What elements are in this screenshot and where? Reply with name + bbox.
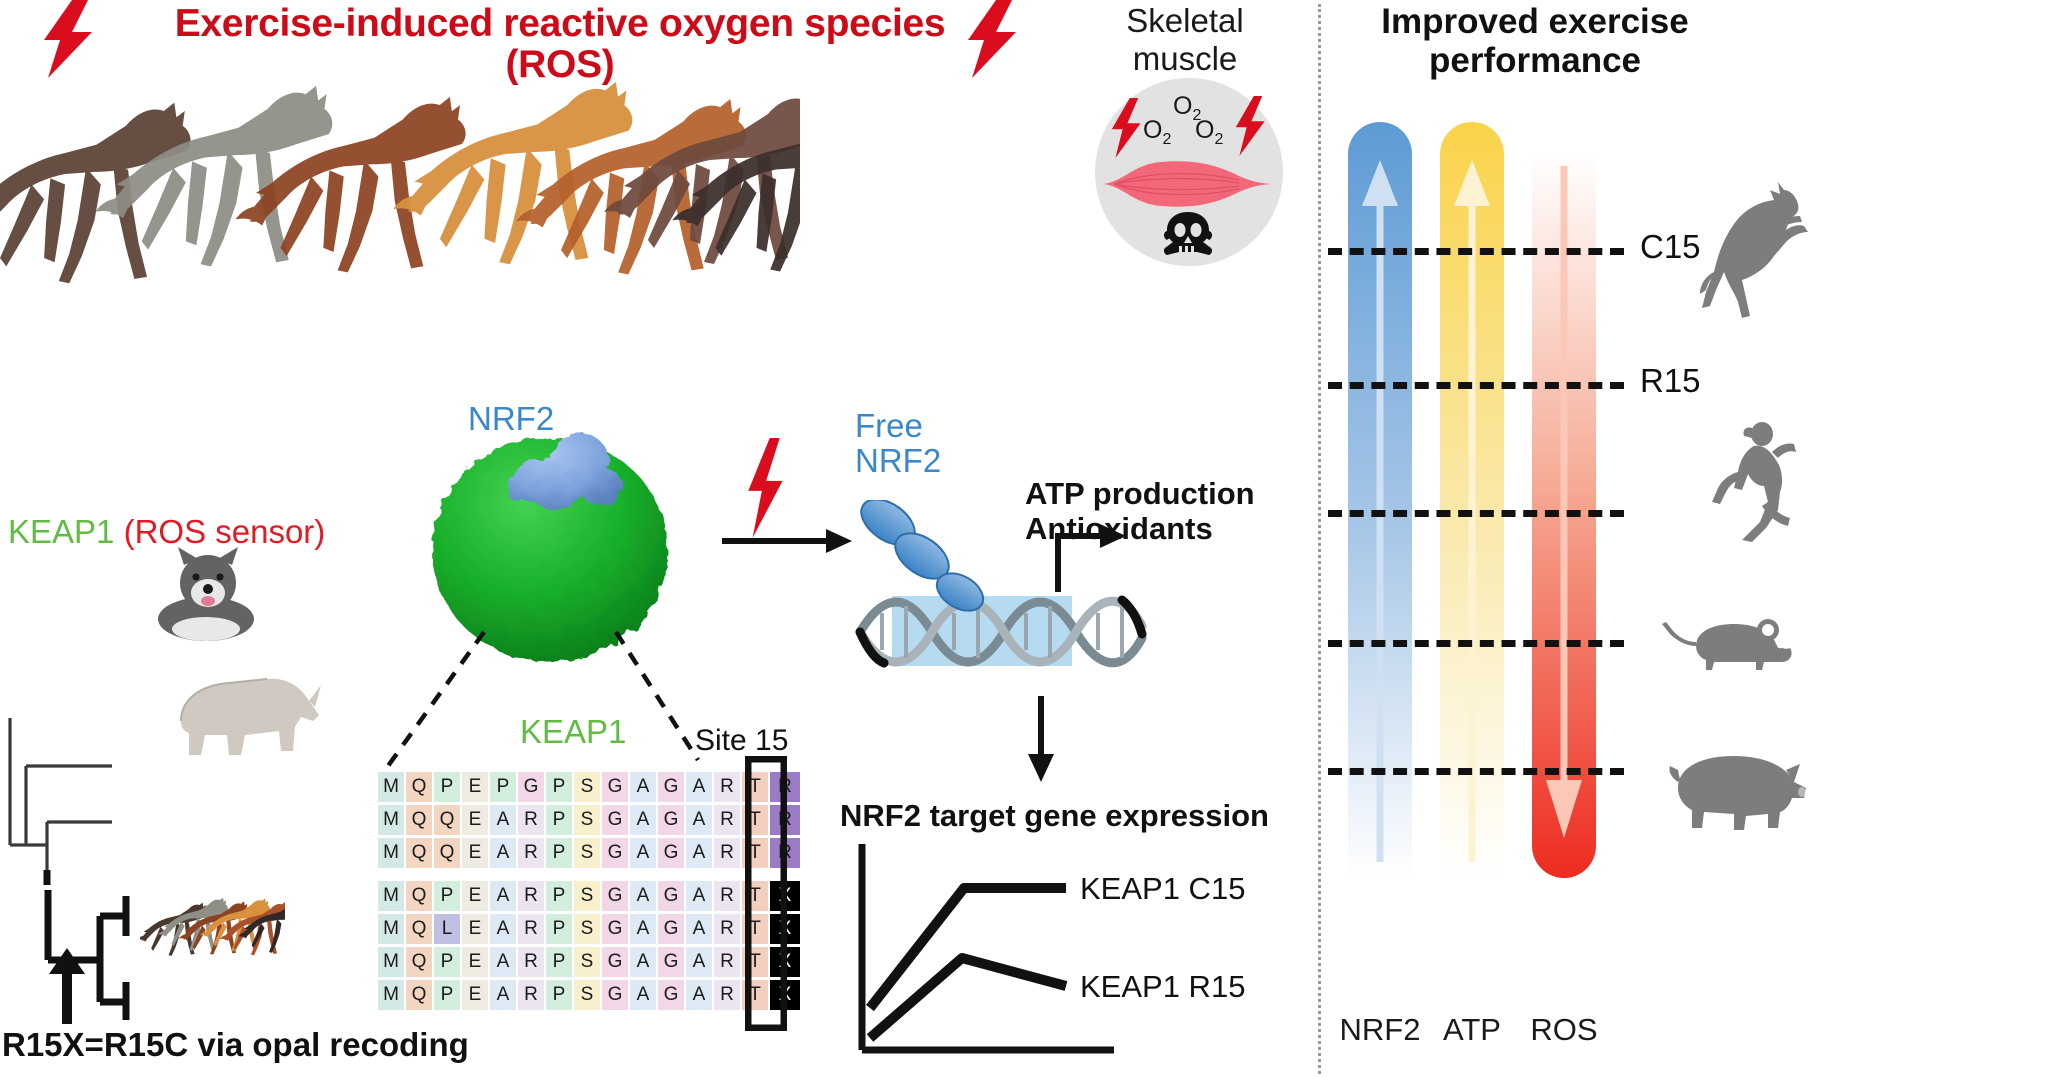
- alignment-residue-cell: R: [714, 881, 740, 911]
- chart-legend-c15: KEAP1 C15: [1080, 871, 1245, 907]
- alignment-residue-cell: R: [518, 914, 544, 944]
- bar-label-nrf2: NRF2: [1335, 1012, 1425, 1048]
- alignment-residue-cell: P: [546, 980, 572, 1010]
- alignment-row: MQPEARPSGAGARTX: [378, 980, 800, 1010]
- improved-exercise-title: Improved exercise performance: [1370, 2, 1700, 80]
- alignment-residue-cell: A: [686, 805, 712, 835]
- alignment-residue-cell: P: [546, 805, 572, 835]
- alignment-residue-cell: E: [462, 947, 488, 977]
- alignment-residue-cell: A: [630, 980, 656, 1010]
- alignment-residue-cell: A: [630, 881, 656, 911]
- alignment-residue-cell: S: [574, 838, 600, 868]
- reference-label-r15: R15: [1640, 362, 1701, 400]
- improved-exercise-l1: Improved exercise: [1370, 2, 1700, 41]
- reference-label-c15: C15: [1640, 228, 1701, 266]
- alignment-residue-cell: G: [658, 838, 684, 868]
- alignment-residue-cell: G: [602, 805, 628, 835]
- alignment-residue-cell: G: [602, 980, 628, 1010]
- chart-legend-r15: KEAP1 R15: [1080, 969, 1245, 1005]
- free-nrf2-l1: Free: [855, 408, 941, 443]
- alignment-residue-cell: A: [630, 805, 656, 835]
- alignment-residue-cell: P: [546, 914, 572, 944]
- reference-line-r15: [1328, 382, 1624, 389]
- alignment-residue-cell: Q: [406, 914, 432, 944]
- free-nrf2-label: Free NRF2: [855, 408, 941, 479]
- downstream-arrow: [1026, 696, 1056, 782]
- alignment-residue-cell: P: [546, 881, 572, 911]
- alignment-residue-cell: E: [462, 914, 488, 944]
- alignment-row: MQPEPGPSGAGARTR: [378, 772, 800, 802]
- alignment-residue-cell: S: [574, 947, 600, 977]
- muscle-icon: [1099, 158, 1279, 210]
- galloping-horses-small-photo: [140, 892, 285, 962]
- alignment-residue-cell: Q: [406, 980, 432, 1010]
- r15x-caption: R15X=R15C via opal recoding: [2, 1026, 469, 1064]
- alignment-residue-cell: S: [574, 772, 600, 802]
- alignment-residue-cell: A: [686, 947, 712, 977]
- alignment-residue-cell: P: [434, 772, 460, 802]
- alignment-residue-cell: G: [658, 914, 684, 944]
- alignment-residue-cell: P: [546, 947, 572, 977]
- alignment-residue-cell: A: [490, 881, 516, 911]
- o2-label-right: O2: [1195, 116, 1223, 149]
- alignment-residue-cell: A: [630, 947, 656, 977]
- galloping-horses-herd: [0, 48, 800, 288]
- dog-photo: [148, 545, 264, 645]
- rhinoceros-photo: [175, 655, 325, 765]
- o2-label-left: O2: [1143, 116, 1171, 149]
- lightning-bolt-icon: [1231, 96, 1267, 156]
- alignment-residue-cell: Q: [406, 805, 432, 835]
- alignment-residue-cell: P: [434, 980, 460, 1010]
- alignment-residue-cell: G: [518, 772, 544, 802]
- alignment-residue-cell: E: [462, 881, 488, 911]
- mouse-icon: [1660, 612, 1800, 682]
- alignment-row: MQQEARPSGAGARTR: [378, 838, 800, 868]
- activation-arrow: [722, 527, 852, 555]
- alignment-row: MQPEARPSGAGARTX: [378, 947, 800, 977]
- reference-line-3: [1328, 510, 1624, 517]
- alignment-residue-cell: G: [658, 980, 684, 1010]
- atp-production-text: ATP production: [1025, 477, 1255, 512]
- alignment-residue-cell: A: [686, 980, 712, 1010]
- panel-divider: [1318, 4, 1321, 1074]
- alignment-residue-cell: G: [658, 805, 684, 835]
- alignment-residue-cell: M: [378, 838, 404, 868]
- alignment-residue-cell: M: [378, 772, 404, 802]
- alignment-residue-cell: A: [686, 772, 712, 802]
- skeletal-muscle-title-l2: muscle: [1070, 40, 1300, 78]
- alignment-residue-cell: P: [546, 772, 572, 802]
- alignment-residue-cell: R: [714, 838, 740, 868]
- alignment-residue-cell: G: [602, 838, 628, 868]
- alignment-residue-cell: Q: [406, 838, 432, 868]
- alignment-residue-cell: S: [574, 914, 600, 944]
- alignment-residue-cell: M: [378, 805, 404, 835]
- alignment-residue-cell: A: [686, 838, 712, 868]
- skull-and-crossbones-icon: [1159, 212, 1217, 262]
- bar-label-ros: ROS: [1519, 1012, 1609, 1048]
- reference-line-4: [1328, 640, 1624, 647]
- alignment-residue-cell: G: [602, 881, 628, 911]
- skeletal-muscle-title: Skeletal muscle: [1070, 2, 1300, 79]
- reference-line-c15: [1328, 248, 1624, 255]
- site15-highlight-box: [745, 756, 787, 1031]
- alignment-residue-cell: M: [378, 947, 404, 977]
- alignment-row: MQQEARPSGAGARTR: [378, 805, 800, 835]
- alignment-residue-cell: Q: [406, 881, 432, 911]
- improved-exercise-l2: performance: [1370, 41, 1700, 80]
- alignment-residue-cell: G: [602, 914, 628, 944]
- keap1-text: KEAP1: [8, 513, 114, 550]
- human-runner-icon: [1708, 422, 1808, 542]
- skeletal-muscle-diagram: O2 O2 O2: [1095, 78, 1283, 266]
- alignment-residue-cell: A: [490, 980, 516, 1010]
- alignment-residue-cell: G: [658, 881, 684, 911]
- alignment-residue-cell: R: [518, 947, 544, 977]
- alignment-residue-cell: S: [574, 980, 600, 1010]
- alignment-residue-cell: A: [490, 914, 516, 944]
- skeletal-muscle-title-l1: Skeletal: [1070, 2, 1300, 40]
- alignment-residue-cell: A: [490, 947, 516, 977]
- lightning-bolt-icon: [962, 0, 1022, 78]
- antioxidants-text: Antioxidants: [1025, 512, 1255, 547]
- alignment-residue-cell: A: [630, 914, 656, 944]
- alignment-residue-cell: E: [462, 772, 488, 802]
- alignment-residue-cell: P: [546, 838, 572, 868]
- alignment-residue-cell: R: [518, 980, 544, 1010]
- alignment-residue-cell: R: [714, 947, 740, 977]
- alignment-residue-cell: R: [518, 805, 544, 835]
- alignment-residue-cell: R: [714, 805, 740, 835]
- alignment-residue-cell: A: [686, 881, 712, 911]
- alignment-residue-cell: L: [434, 914, 460, 944]
- alignment-residue-cell: R: [714, 914, 740, 944]
- alignment-residue-cell: E: [462, 805, 488, 835]
- alignment-residue-cell: R: [714, 772, 740, 802]
- alignment-residue-cell: A: [490, 838, 516, 868]
- alignment-residue-cell: A: [686, 914, 712, 944]
- structure-callout-leaders: [380, 620, 740, 780]
- alignment-residue-cell: E: [462, 980, 488, 1010]
- alignment-residue-cell: A: [630, 772, 656, 802]
- alignment-residue-cell: P: [434, 881, 460, 911]
- alignment-residue-cell: G: [602, 947, 628, 977]
- alignment-residue-cell: G: [658, 947, 684, 977]
- alignment-residue-cell: M: [378, 914, 404, 944]
- sequence-alignment: MQPEPGPSGAGARTRMQQEARPSGAGARTRMQQEARPSGA…: [378, 772, 800, 1013]
- alignment-residue-cell: Q: [406, 947, 432, 977]
- keap1-structure-label: KEAP1: [520, 713, 626, 751]
- pig-icon: [1660, 742, 1810, 834]
- alignment-residue-cell: G: [602, 772, 628, 802]
- recoding-event-arrow: [46, 948, 88, 1024]
- alignment-residue-cell: P: [434, 947, 460, 977]
- lightning-bolt-icon: [742, 438, 786, 538]
- target-gene-title: NRF2 target gene expression: [840, 798, 1269, 834]
- alignment-row: MQPEARPSGAGARTX: [378, 881, 800, 911]
- alignment-residue-cell: R: [714, 980, 740, 1010]
- alignment-residue-cell: Q: [434, 838, 460, 868]
- bar-label-atp: ATP: [1427, 1012, 1517, 1048]
- alignment-residue-cell: R: [518, 838, 544, 868]
- alignment-residue-cell: M: [378, 881, 404, 911]
- horse-rearing-icon: [1700, 180, 1822, 320]
- alignment-residue-cell: P: [490, 772, 516, 802]
- alignment-residue-cell: Q: [406, 772, 432, 802]
- site15-label: Site 15: [695, 724, 788, 758]
- alignment-residue-cell: A: [490, 805, 516, 835]
- atp-antioxidants-label: ATP production Antioxidants: [1025, 477, 1255, 546]
- alignment-residue-cell: Q: [434, 805, 460, 835]
- alignment-residue-cell: E: [462, 838, 488, 868]
- alignment-residue-cell: R: [518, 881, 544, 911]
- alignment-residue-cell: S: [574, 881, 600, 911]
- alignment-row: MQLEARPSGAGARTX: [378, 914, 800, 944]
- reference-line-5: [1328, 768, 1624, 775]
- alignment-residue-cell: M: [378, 980, 404, 1010]
- alignment-residue-cell: S: [574, 805, 600, 835]
- free-nrf2-l2: NRF2: [855, 443, 941, 478]
- alignment-residue-cell: A: [630, 838, 656, 868]
- lightning-bolt-icon: [1107, 98, 1143, 158]
- alignment-residue-cell: G: [658, 772, 684, 802]
